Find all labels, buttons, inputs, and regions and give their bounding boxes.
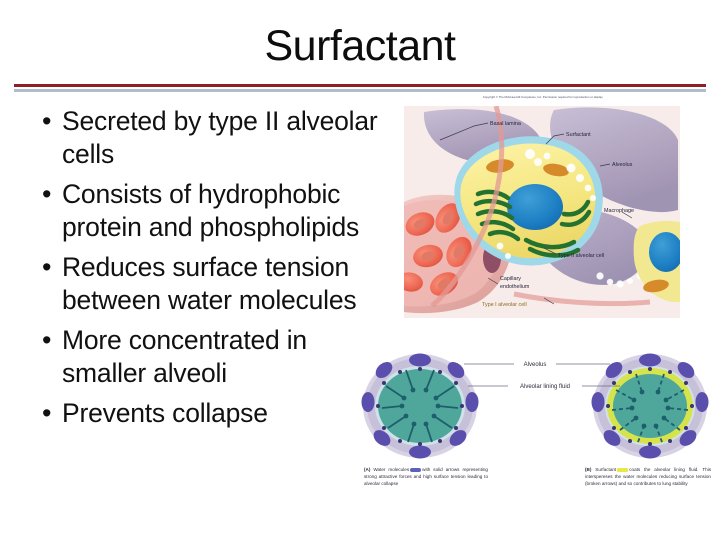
figure-copyright-text: Copyright © The McGraw-Hill Companies, I… [408,96,678,99]
bullet-text: Secreted by type II alveolar cells [62,105,386,171]
title-divider [14,84,706,93]
bullet-text: Consists of hydrophobic protein and phos… [62,178,386,244]
label-alveolus: Alveolus [524,362,547,368]
label-capillary: Capillary [500,276,521,282]
alveolus-histology-illustration: Basal lamina Surfactant Alveolus Macroph… [404,106,680,318]
slide-canvas: Surfactant • Secreted by type II alveola… [0,0,720,539]
type-ii-cell-nucleus [507,184,563,230]
page-title: Surfactant [0,24,720,69]
surface-tension-illustration: Alveolus Alveolar lining fluid [358,348,714,470]
bullet-marker-icon: • [36,178,62,211]
bullet-marker-icon: • [36,324,62,357]
bullet-marker-icon: • [36,251,62,284]
alveolus-panel-b [592,354,709,459]
caption-b-text-before: Surfactant [595,467,616,472]
caption-panel-b: (B) Surfactantcoats the alveolar lining … [585,466,711,487]
label-alveolar-lining-fluid: Alveolar lining fluid [520,384,570,390]
bullet-marker-icon: • [36,397,62,430]
alveolar-lumen-a [378,369,462,443]
surfactant-swatch-icon [617,468,628,472]
list-item: • Prevents collapse [36,397,386,430]
caption-panel-a: (A) Water moleculeswith solid arrows rep… [364,466,488,487]
list-item: • More concentrated in smaller alveoli [36,324,386,390]
bullet-marker-icon: • [36,105,62,138]
alveolar-lumen-b [613,374,687,438]
list-item: • Consists of hydrophobic protein and ph… [36,178,386,244]
bullet-text: More concentrated in smaller alveoli [62,324,386,390]
label-basal-lamina: Basal lamina [490,121,521,127]
label-alveolus: Alveolus [612,162,633,168]
label-surfactant: Surfactant [566,132,591,138]
bullet-list: • Secreted by type II alveolar cells • C… [36,105,386,437]
divider-blue-line [14,89,706,92]
bullet-text: Reduces surface tension between water mo… [62,251,386,317]
caption-a-text-before: Water molecules [373,467,409,472]
bullet-text: Prevents collapse [62,397,386,430]
caption-a-tag: (A) [364,467,370,472]
list-item: • Reduces surface tension between water … [36,251,386,317]
list-item: • Secreted by type II alveolar cells [36,105,386,171]
label-type-i-alveolar-cell: Type I alveolar cell [482,302,527,308]
alveolus-histology-figure: Copyright © The McGraw-Hill Companies, I… [400,96,682,322]
surface-tension-figure: Alveolus Alveolar lining fluid (A) Water… [358,348,714,536]
label-macrophage: Macrophage [604,208,634,214]
caption-b-tag: (B) [585,467,591,472]
water-molecule-swatch-icon [410,468,421,472]
label-type-ii-alveolar-cell: Type II alveolar cell [558,253,604,259]
alveolus-panel-a [362,354,479,459]
label-endothelium: endothelium [500,284,530,290]
